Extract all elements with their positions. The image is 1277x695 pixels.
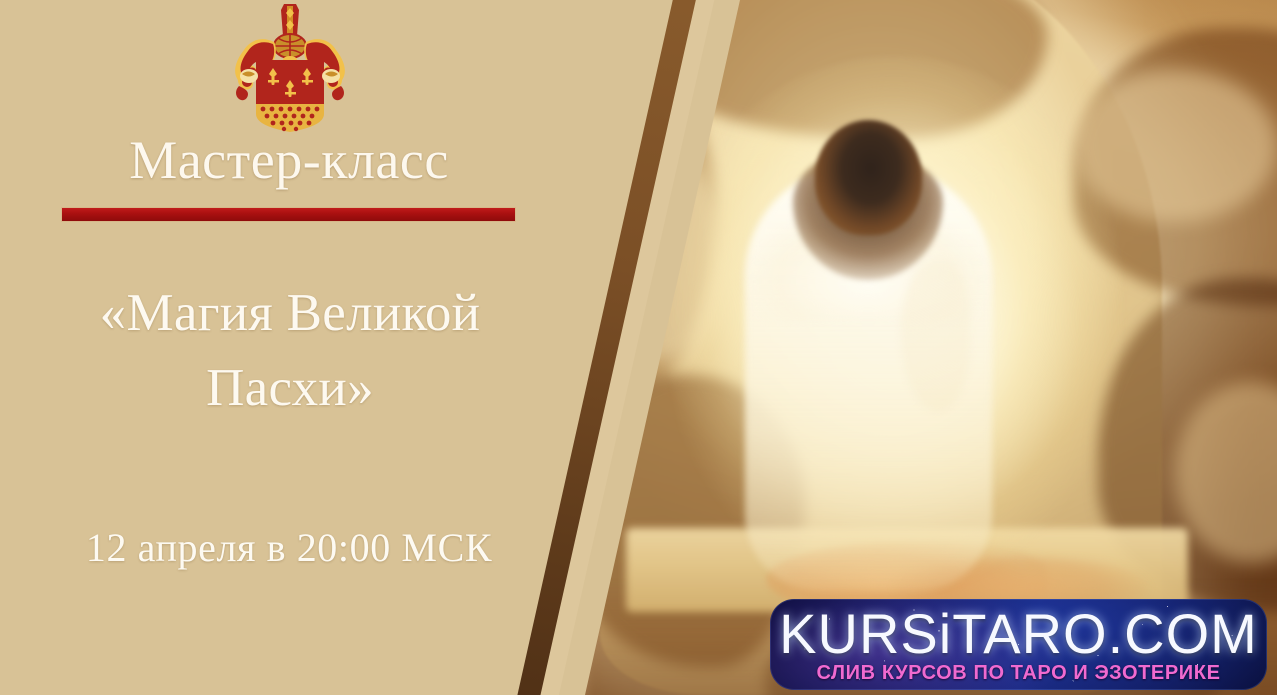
page-kicker: Мастер-класс [0,132,578,189]
watermark-tagline: СЛИВ КУРСОВ ПО ТАРО И ЭЗОТЕРИКЕ [770,662,1267,685]
heraldic-coat-of-arms-icon [217,2,363,132]
watermark-badge[interactable]: KURSiTARO.COM СЛИВ КУРСОВ ПО ТАРО И ЭЗОТ… [770,599,1267,690]
figure-arm [901,260,971,410]
promo-poster: Мастер-класс «Магия Великой Пасхи» 12 ап… [0,0,1277,695]
left-text-panel: Мастер-класс «Магия Великой Пасхи» 12 ап… [0,0,578,695]
figure-head [815,120,922,235]
divider-rule [62,208,515,221]
event-datetime: 12 апреля в 20:00 МСК [0,524,578,571]
page-title: «Магия Великой Пасхи» [30,276,550,427]
watermark-site-name: KURSiTARO.COM [770,601,1267,666]
robed-figure [734,90,1002,590]
